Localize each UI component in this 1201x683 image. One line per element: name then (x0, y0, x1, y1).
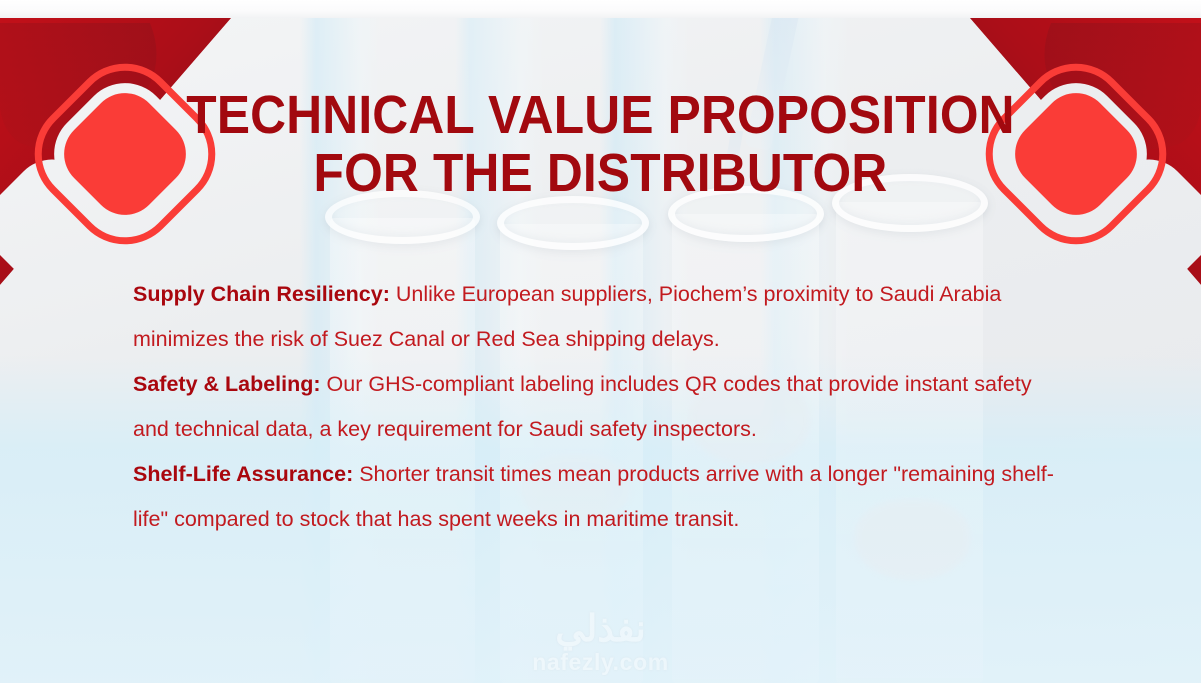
slide-title: TECHNICAL VALUE PROPOSITION FOR THE DIST… (0, 86, 1201, 202)
bullet-lead-shelf-life: Shelf-Life Assurance: (133, 462, 353, 486)
bullet-point-shelf-life: Shelf-Life Assurance: Shorter transit ti… (133, 452, 1063, 542)
bullet-point-supply-chain: Supply Chain Resiliency: Unlike European… (133, 272, 1063, 362)
bullet-point-safety-labeling: Safety & Labeling: Our GHS-compliant lab… (133, 362, 1063, 452)
bullet-lead-supply-chain: Supply Chain Resiliency: (133, 282, 390, 306)
top-white-band (0, 0, 1201, 18)
bullet-lead-safety-labeling: Safety & Labeling: (133, 372, 321, 396)
slide-canvas: TECHNICAL VALUE PROPOSITION FOR THE DIST… (0, 0, 1201, 683)
title-line-1: TECHNICAL VALUE PROPOSITION (48, 86, 1153, 144)
body-copy: Supply Chain Resiliency: Unlike European… (133, 272, 1063, 542)
title-line-2: FOR THE DISTRIBUTOR (48, 144, 1153, 202)
